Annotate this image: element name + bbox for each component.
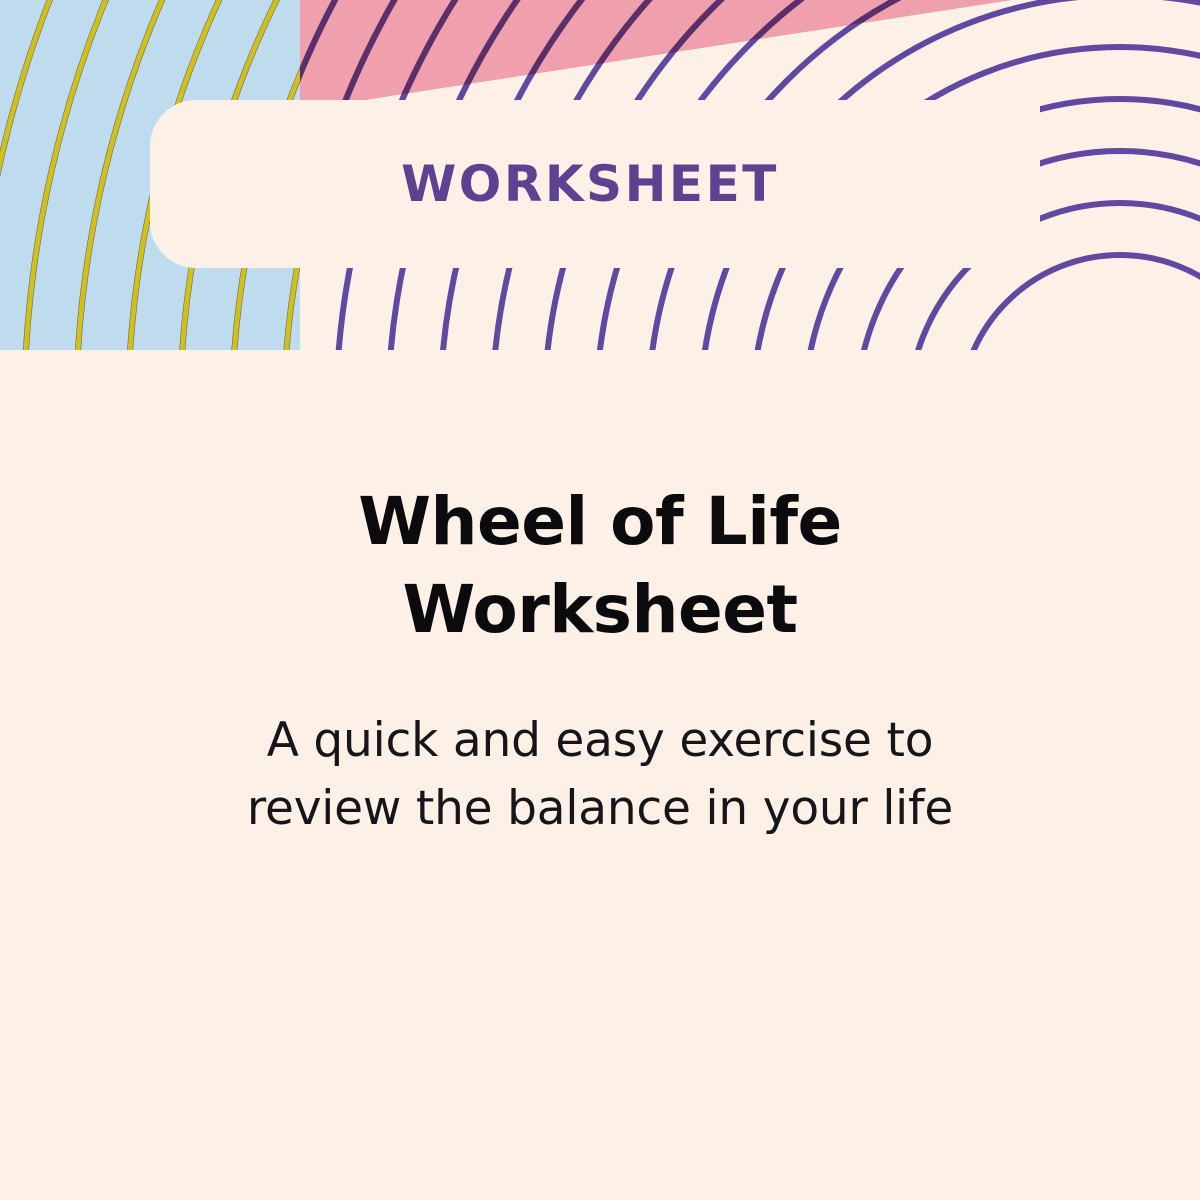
page-subtitle: A quick and easy exercise to review the …	[150, 707, 1050, 844]
main-content: Wheel of Life Worksheet A quick and easy…	[0, 350, 1200, 1200]
page-subtitle-line-1: A quick and easy exercise to	[150, 707, 1050, 776]
worksheet-label: WORKSHEET	[401, 159, 779, 209]
worksheet-pill: WORKSHEET	[150, 100, 1040, 268]
page-title-line-1: Wheel of Life	[150, 478, 1050, 566]
page-title-line-2: Worksheet	[150, 566, 1050, 654]
page-title: Wheel of Life Worksheet	[150, 478, 1050, 655]
worksheet-cover-page: WORKSHEET Wheel of Life Worksheet A quic…	[0, 0, 1200, 1200]
page-subtitle-line-2: review the balance in your life	[150, 775, 1050, 844]
